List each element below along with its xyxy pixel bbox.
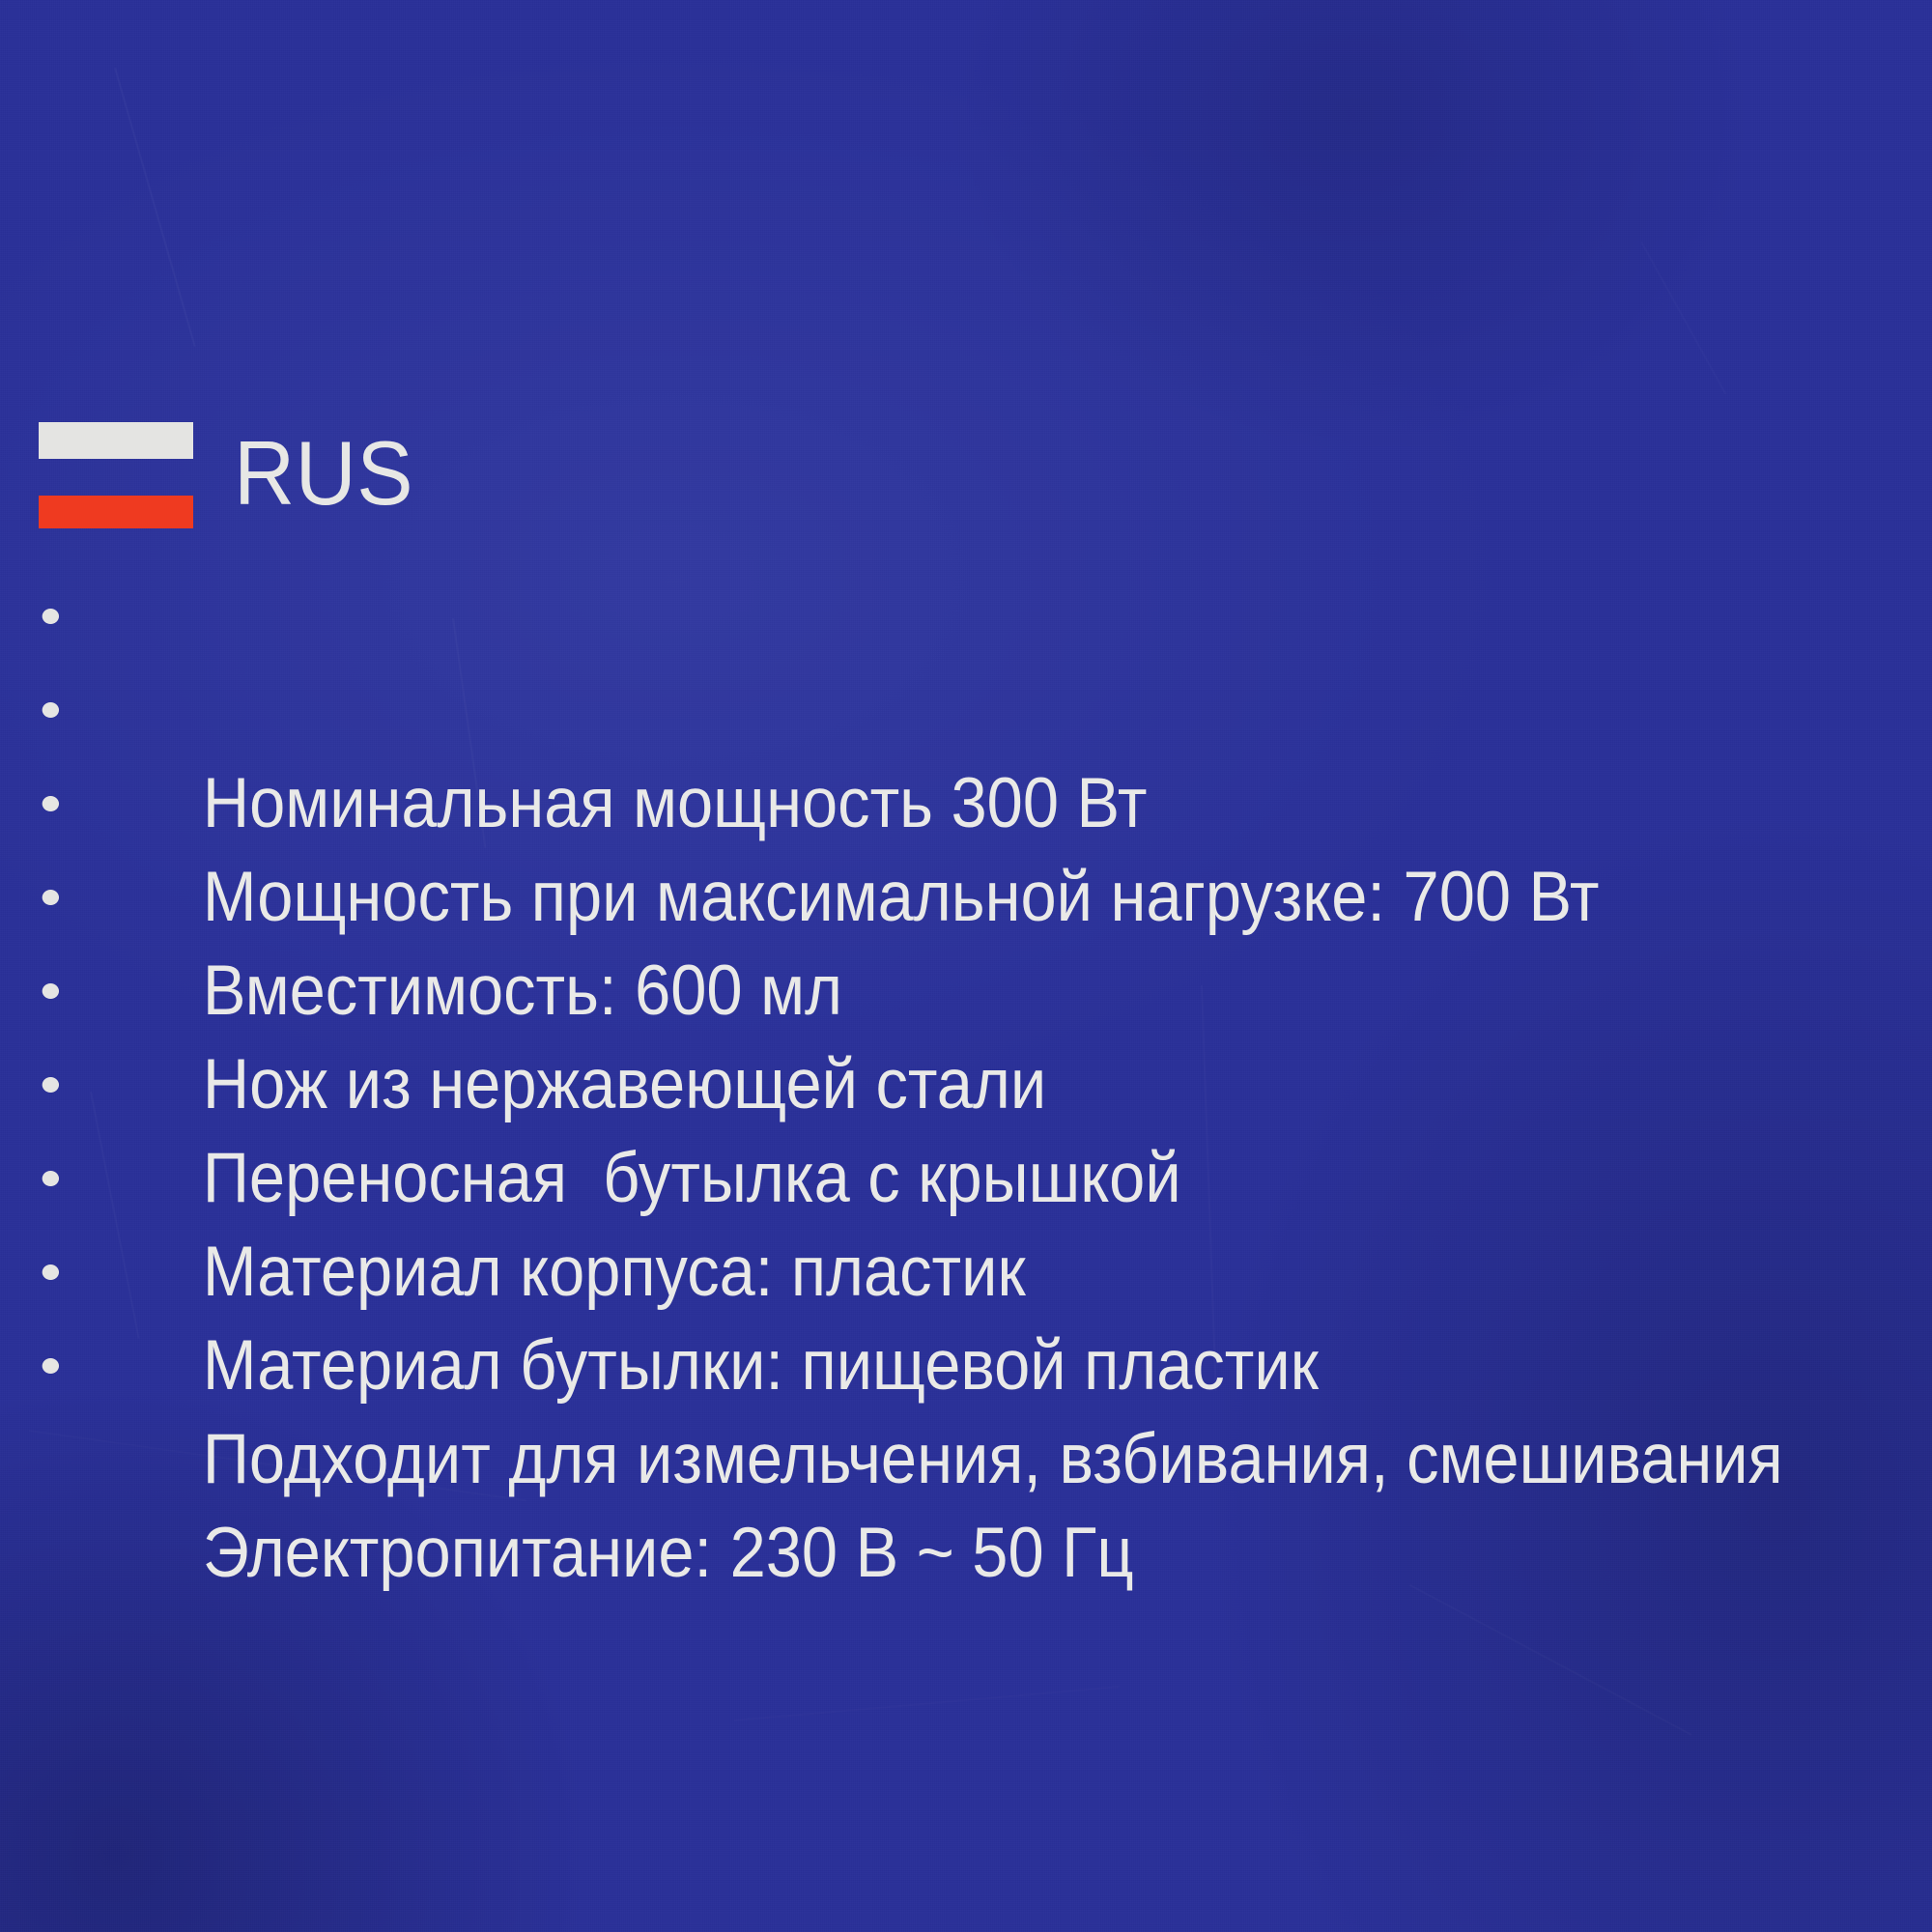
- specification-list: Номинальная мощность 300 Вт Мощность при…: [39, 569, 1922, 1412]
- russia-flag-icon: [39, 414, 193, 525]
- bullet-icon: [43, 890, 59, 905]
- language-header: RUS: [39, 410, 427, 529]
- bullet-icon: [43, 1171, 59, 1186]
- bullet-icon: [43, 983, 59, 999]
- bullet-icon: [43, 1077, 59, 1093]
- spec-list-item: Переносная бутылка с крышкой: [39, 944, 1762, 1037]
- spec-list-item: Нож из нержавеющей стали: [39, 850, 1762, 944]
- language-code-label: RUS: [234, 428, 413, 519]
- spec-list-item: Номинальная мощность 300 Вт: [39, 569, 1762, 663]
- spec-list-item: Материал корпуса: пластик: [39, 1037, 1762, 1131]
- bullet-icon: [43, 1358, 59, 1374]
- flag-stripe-red: [39, 496, 193, 528]
- spec-list-item: Подходит для измельчения, взбивания, сме…: [39, 1225, 1762, 1319]
- bullet-icon: [43, 1264, 59, 1280]
- flag-stripe-blue: [39, 459, 193, 496]
- spec-item-text: Подходит для измельчения, взбивания, сме…: [203, 1412, 1783, 1506]
- spec-list-item: Вместимость: 600 мл: [39, 756, 1762, 850]
- bullet-icon: [43, 609, 59, 624]
- flag-stripe-white: [39, 422, 193, 459]
- spec-item-text: Электропитание: 230 В ~ 50 Гц: [203, 1506, 1134, 1600]
- spec-list-item: Мощность при максимальной нагрузке: 700 …: [39, 663, 1762, 756]
- bullet-icon: [43, 702, 59, 718]
- package-label-panel: RUS Номинальная мощность 300 Вт Мощность…: [0, 0, 1932, 1932]
- spec-list-item: Материал бутылки: пищевой пластик: [39, 1131, 1762, 1225]
- spec-list-item: Электропитание: 230 В ~ 50 Гц: [39, 1319, 1762, 1412]
- bullet-icon: [43, 796, 59, 811]
